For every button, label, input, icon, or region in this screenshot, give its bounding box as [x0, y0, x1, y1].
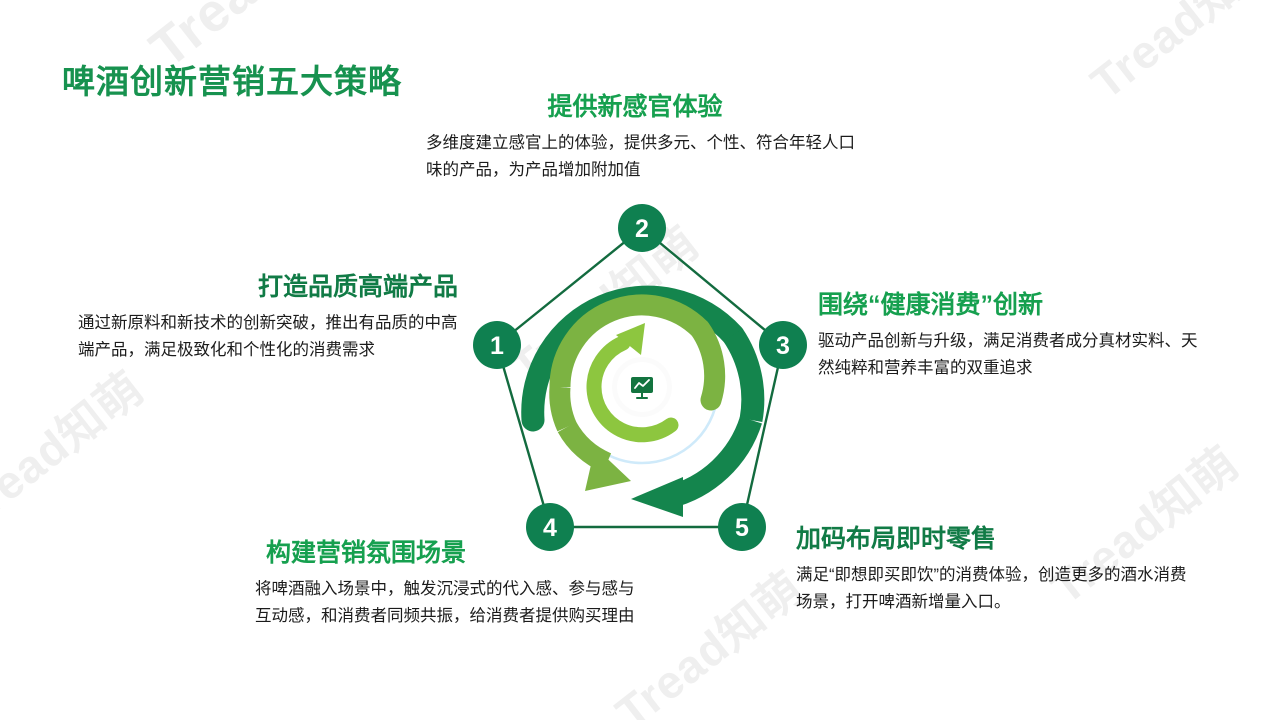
pentagon-node-2[interactable]: 2: [618, 204, 666, 252]
center-node: [612, 357, 672, 417]
pentagon-node-1-number: 1: [490, 332, 504, 360]
pentagon-node-4-number: 4: [543, 514, 557, 542]
watermark: Tread知萌: [0, 353, 155, 542]
watermark: Tread知萌: [1075, 0, 1280, 112]
pentagon-node-2-number: 2: [635, 215, 649, 243]
strategy-heading-1: 打造品质高端产品: [78, 272, 458, 303]
strategy-body-5: 满足“即想即买即饮”的消费体验，创造更多的酒水消费场景，打开啤酒新增量入口。: [796, 562, 1196, 616]
pentagon-node-3-number: 3: [776, 332, 790, 360]
strategy-body-3: 驱动产品创新与升级，满足消费者成分真材实料、天然纯粹和营养丰富的双重追求: [818, 328, 1198, 382]
strategy-block-3: 围绕“健康消费”创新 驱动产品创新与升级，满足消费者成分真材实料、天然纯粹和营养…: [818, 290, 1198, 383]
strategy-body-2: 多维度建立感官上的体验，提供多元、个性、符合年轻人口味的产品，为产品增加附加值: [400, 130, 870, 184]
strategy-heading-3: 围绕“健康消费”创新: [818, 290, 1198, 321]
strategy-block-1: 打造品质高端产品 通过新原料和新技术的创新突破，推出有品质的中高端产品，满足极致…: [78, 272, 458, 365]
strategy-block-5: 加码布局即时零售 满足“即想即买即饮”的消费体验，创造更多的酒水消费场景，打开啤…: [796, 524, 1196, 617]
pentagon-node-1[interactable]: 1: [473, 321, 521, 369]
pentagon-cycle-diagram: 1 2 3 4 5: [455, 195, 830, 565]
strategy-heading-2: 提供新感官体验: [400, 92, 870, 123]
strategy-block-2: 提供新感官体验 多维度建立感官上的体验，提供多元、个性、符合年轻人口味的产品，为…: [400, 92, 870, 185]
strategy-body-1: 通过新原料和新技术的创新突破，推出有品质的中高端产品，满足极致化和个性化的消费需…: [78, 310, 458, 364]
slide-canvas: Tread知萌 Tread知萌 Tread知萌 Tread知萌 Tread知萌 …: [0, 0, 1280, 720]
pentagon-node-5-number: 5: [735, 514, 749, 542]
strategy-body-4: 将啤酒融入场景中，触发沉浸式的代入感、参与感与互动感，和消费者同频共振，给消费者…: [250, 576, 650, 630]
pentagon-node-3[interactable]: 3: [759, 321, 807, 369]
page-title: 啤酒创新营销五大策略: [62, 55, 402, 103]
pentagon-node-4[interactable]: 4: [526, 503, 574, 551]
pentagon-node-5[interactable]: 5: [718, 503, 766, 551]
strategy-heading-5: 加码布局即时零售: [796, 524, 1196, 555]
